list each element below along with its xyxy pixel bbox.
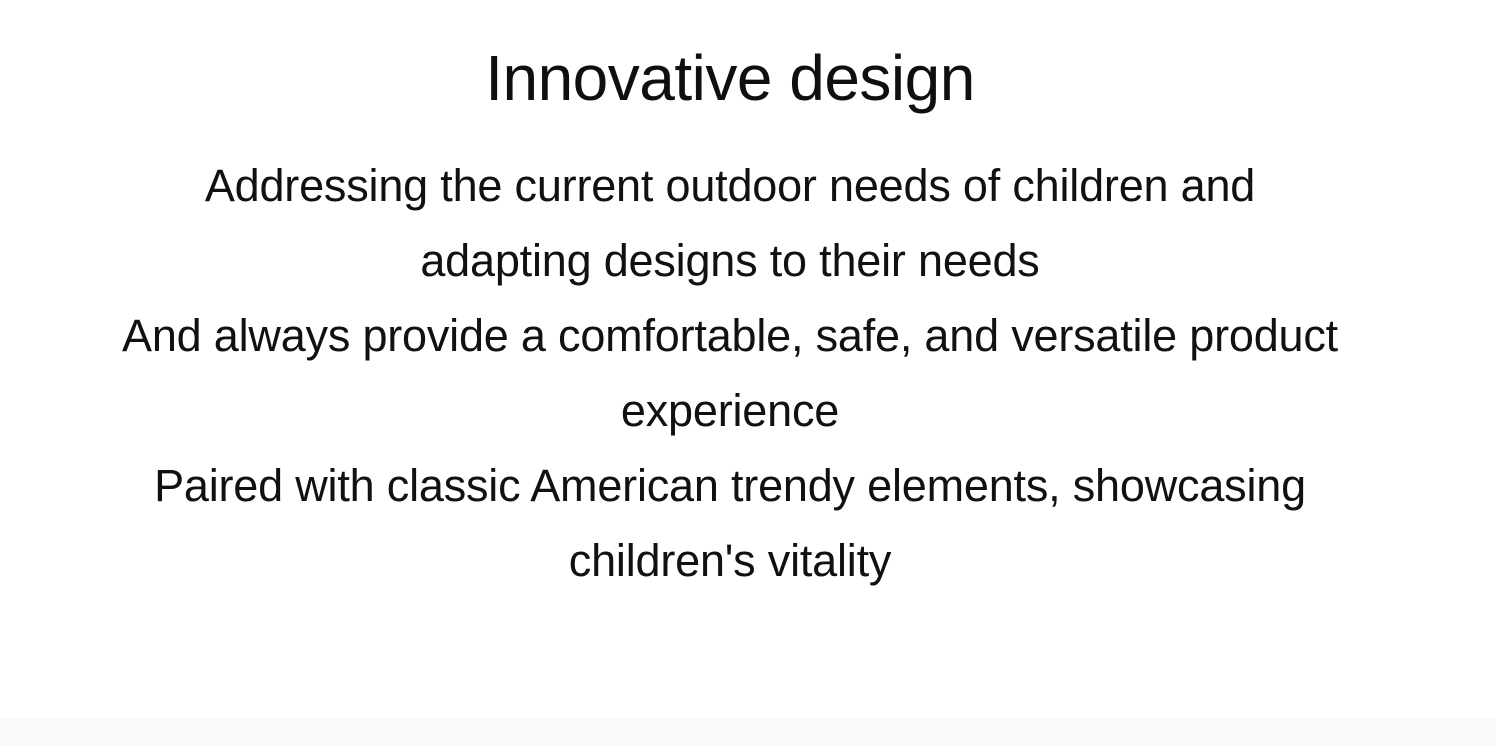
body-line: And always provide a comfortable, safe, … (18, 298, 1442, 373)
body-line: Addressing the current outdoor needs of … (18, 148, 1442, 223)
body-text-block: Addressing the current outdoor needs of … (18, 110, 1442, 598)
bottom-divider-band (0, 718, 1496, 746)
body-line: Paired with classic American trendy elem… (18, 448, 1442, 523)
page-title: Innovative design (18, 0, 1442, 110)
body-line: children's vitality (18, 523, 1442, 598)
body-line: experience (18, 373, 1442, 448)
slide-root: Innovative design Addressing the current… (0, 0, 1496, 746)
content-column: Innovative design Addressing the current… (0, 0, 1460, 598)
body-line: adapting designs to their needs (18, 223, 1442, 298)
